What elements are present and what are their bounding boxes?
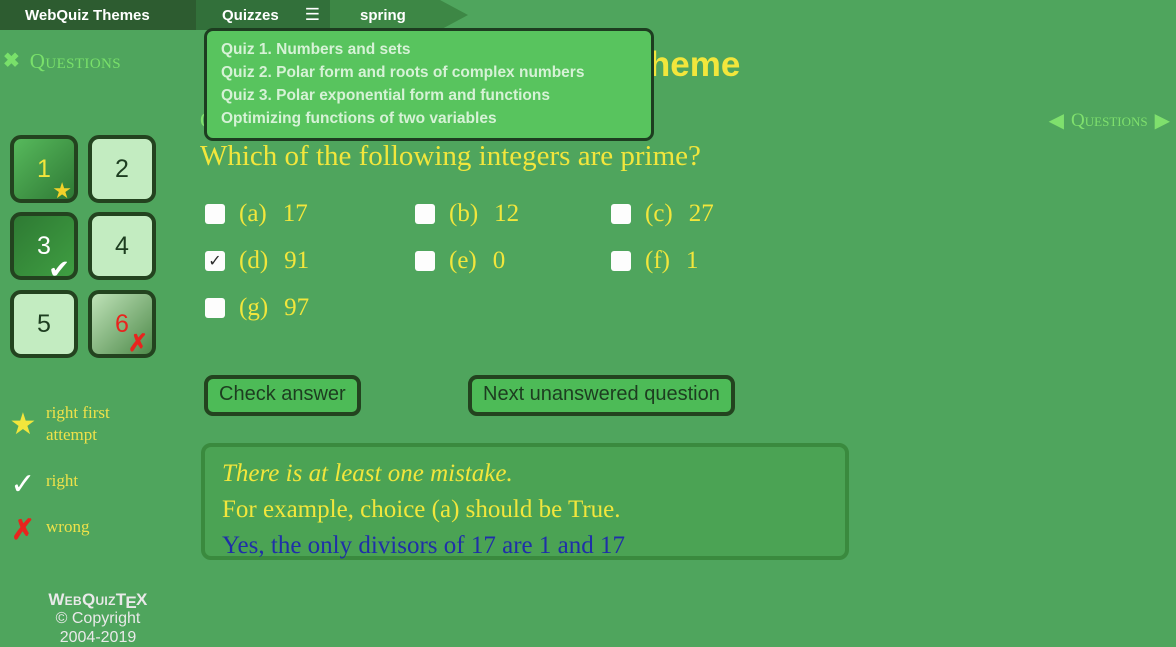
checkbox-d[interactable]: ✓ <box>205 251 225 271</box>
answer-option-g[interactable]: (g) 97 <box>205 294 309 322</box>
questions-nav-label[interactable]: Questions <box>1071 110 1148 132</box>
menu-item-quiz-2[interactable]: Quiz 2. Polar form and roots of complex … <box>207 61 651 84</box>
question-button-6[interactable]: 6 ✗ <box>88 290 156 358</box>
breadcrumb-item-spring[interactable]: spring <box>330 0 406 30</box>
question-button-number: 2 <box>115 155 129 184</box>
option-value: 1 <box>686 247 699 275</box>
checkbox-e[interactable] <box>415 251 435 271</box>
check-icon: ✓ <box>0 470 46 500</box>
question-button-number: 6 <box>115 310 129 339</box>
breadcrumb: WebQuiz Themes Quizzes ☰ spring <box>0 0 1176 30</box>
question-button-1[interactable]: 1 ★ <box>10 135 78 203</box>
menu-item-quiz-3[interactable]: Quiz 3. Polar exponential form and funct… <box>207 84 651 107</box>
question-button-2[interactable]: 2 <box>88 135 156 203</box>
option-label: (f) <box>645 247 670 275</box>
answer-option-c[interactable]: (c) 27 <box>611 200 714 228</box>
checkbox-c[interactable] <box>611 204 631 224</box>
sidebar: ✖ Questions 1 ★ 2 3 ✔ 4 5 6 ✗ ★ right fi… <box>0 30 196 619</box>
checkbox-f[interactable] <box>611 251 631 271</box>
cross-icon: ✗ <box>128 332 148 356</box>
brand-name: WebQuiz <box>48 590 115 609</box>
legend-item-right: ✓ right <box>0 470 78 500</box>
copyright-years: 2004-2019 <box>0 628 196 647</box>
answer-option-a[interactable]: (a) 17 <box>205 200 308 228</box>
brand-logo: WebQuizTEX <box>0 590 196 609</box>
quiz-dropdown-menu[interactable]: Quiz 1. Numbers and sets Quiz 2. Polar f… <box>204 28 654 141</box>
breadcrumb-label: spring <box>360 7 406 24</box>
next-arrow-icon[interactable]: ▶ <box>1155 111 1170 131</box>
answer-option-d[interactable]: ✓ (d) 91 <box>205 247 309 275</box>
legend-label: wrong <box>46 516 89 538</box>
close-icon[interactable]: ✖ <box>3 51 20 71</box>
question-button-3[interactable]: 3 ✔ <box>10 212 78 280</box>
prev-arrow-icon[interactable]: ◀ <box>1049 111 1064 131</box>
option-value: 91 <box>284 247 309 275</box>
feedback-line-2: For example, choice (a) should be True. <box>222 492 845 528</box>
option-label: (e) <box>449 247 477 275</box>
answer-option-f[interactable]: (f) 1 <box>611 247 698 275</box>
question-button-4[interactable]: 4 <box>88 212 156 280</box>
feedback-panel: There is at least one mistake. For examp… <box>201 443 849 560</box>
menu-item-optimizing[interactable]: Optimizing functions of two variables <box>207 107 651 130</box>
checkbox-g[interactable] <box>205 298 225 318</box>
option-label: (d) <box>239 247 268 275</box>
legend-label: right first attempt <box>46 402 156 446</box>
questions-nav: ◀ Questions ▶ <box>1049 110 1170 132</box>
breadcrumb-item-webquiz-themes[interactable]: WebQuiz Themes <box>0 0 150 30</box>
option-label: (a) <box>239 200 267 228</box>
answer-option-e[interactable]: (e) 0 <box>415 247 505 275</box>
question-button-number: 5 <box>37 310 51 339</box>
question-text: Which of the following integers are prim… <box>200 140 701 173</box>
legend-item-wrong: ✗ wrong <box>0 516 89 544</box>
check-answer-button[interactable]: Check answer <box>204 375 361 416</box>
option-value: 27 <box>689 200 714 228</box>
feedback-line-3: Yes, the only divisors of 17 are 1 and 1… <box>222 528 845 564</box>
legend-item-right-first-attempt: ★ right first attempt <box>0 402 156 446</box>
sidebar-header: ✖ Questions <box>0 46 196 76</box>
option-label: (b) <box>449 200 478 228</box>
option-label: (g) <box>239 294 268 322</box>
next-unanswered-question-button[interactable]: Next unanswered question <box>468 375 735 416</box>
tex-e: E <box>125 593 137 612</box>
feedback-line-1: There is at least one mistake. <box>222 456 845 492</box>
breadcrumb-item-quizzes[interactable]: Quizzes ☰ <box>196 0 320 30</box>
option-value: 97 <box>284 294 309 322</box>
check-icon: ✔ <box>48 256 70 282</box>
cross-icon: ✗ <box>0 516 46 544</box>
answer-option-b[interactable]: (b) 12 <box>415 200 519 228</box>
checkbox-a[interactable] <box>205 204 225 224</box>
option-value: 0 <box>493 247 506 275</box>
option-label: (c) <box>645 200 673 228</box>
menu-item-quiz-1[interactable]: Quiz 1. Numbers and sets <box>207 38 651 61</box>
star-icon: ★ <box>0 410 46 440</box>
option-value: 12 <box>494 200 519 228</box>
breadcrumb-label: WebQuiz Themes <box>25 7 150 24</box>
hamburger-icon[interactable]: ☰ <box>305 5 320 25</box>
checkbox-b[interactable] <box>415 204 435 224</box>
breadcrumb-arrow-icon <box>440 0 468 30</box>
breadcrumb-label: Quizzes <box>222 7 279 24</box>
star-icon: ★ <box>52 180 72 202</box>
sidebar-title: Questions <box>30 49 121 74</box>
question-button-number: 4 <box>115 232 129 261</box>
question-button-5[interactable]: 5 <box>10 290 78 358</box>
option-value: 17 <box>283 200 308 228</box>
tex-x: X <box>136 590 148 609</box>
question-button-number: 1 <box>37 155 51 184</box>
legend-label: right <box>46 470 78 492</box>
